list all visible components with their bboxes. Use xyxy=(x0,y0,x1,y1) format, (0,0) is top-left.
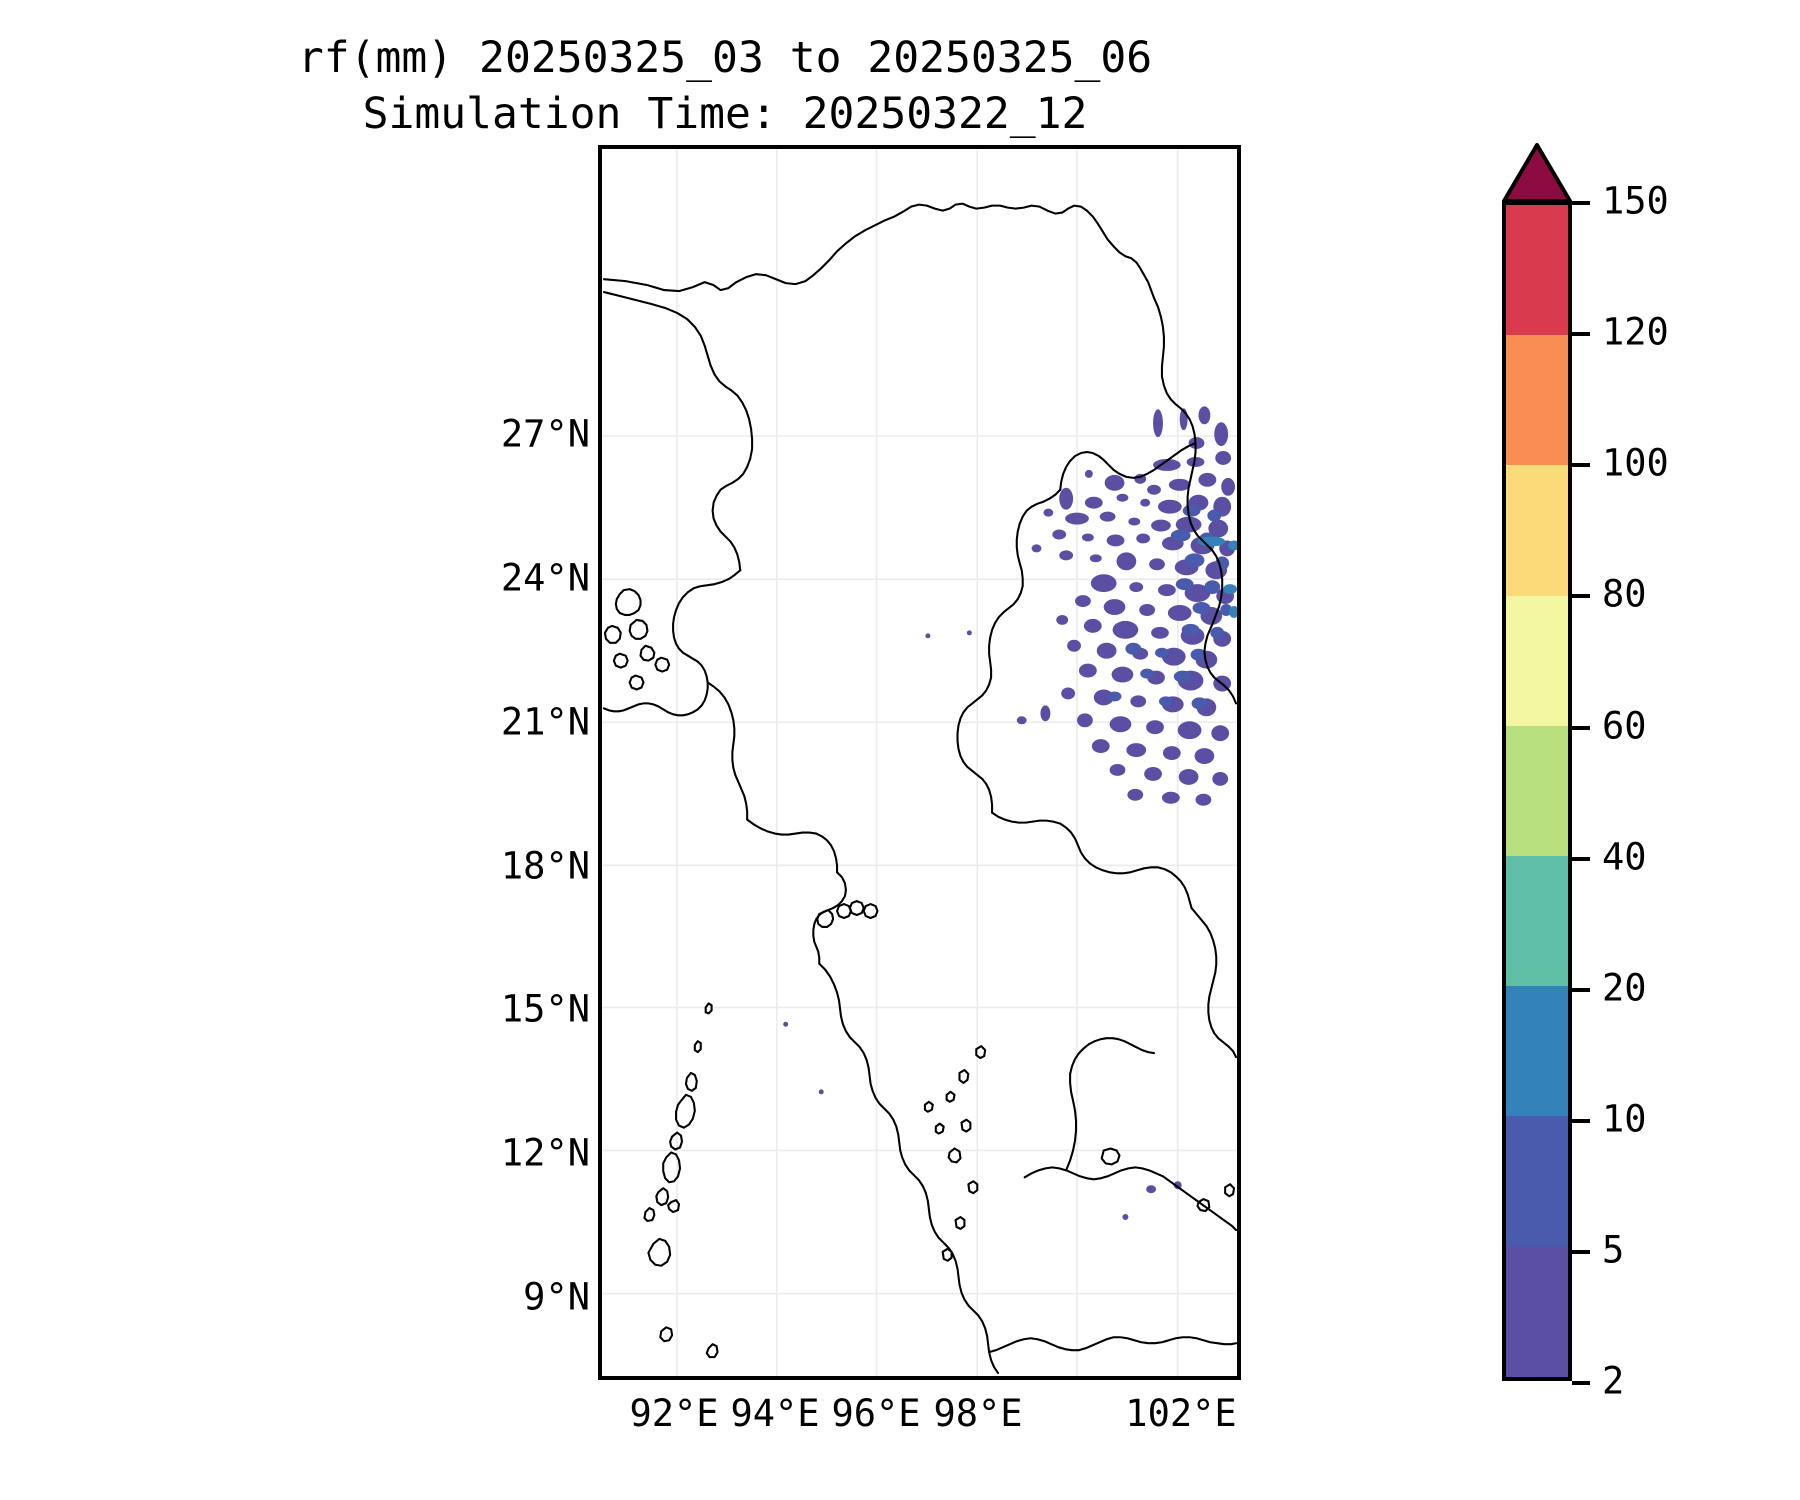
title-block: rf(mm) 20250325_03 to 20250325_06 Simula… xyxy=(0,30,1450,142)
map-axes[interactable] xyxy=(598,145,1241,1380)
cb-label-2: 2 xyxy=(1602,1360,1624,1403)
ytick-label-24n: 24°N xyxy=(290,557,590,600)
cb-band-2-5 xyxy=(1506,1247,1568,1377)
cb-band-20-40 xyxy=(1506,856,1568,986)
figure-root: rf(mm) 20250325_03 to 20250325_06 Simula… xyxy=(0,0,1800,1500)
cb-label-40: 40 xyxy=(1602,836,1647,879)
cb-label-60: 60 xyxy=(1602,705,1647,748)
cb-tick-10 xyxy=(1572,1119,1590,1123)
cb-label-5: 5 xyxy=(1602,1229,1624,1272)
cb-label-80: 80 xyxy=(1602,573,1647,616)
cb-label-20: 20 xyxy=(1602,967,1647,1010)
xtick-label-98e: 98°E xyxy=(933,1392,1022,1435)
ytick-label-21n: 21°N xyxy=(290,701,590,744)
cb-tick-2 xyxy=(1572,1381,1590,1385)
ytick-label-12n: 12°N xyxy=(290,1132,590,1175)
cb-band-100-120 xyxy=(1506,335,1568,465)
cb-tick-5 xyxy=(1572,1250,1590,1254)
cb-tick-20 xyxy=(1572,988,1590,992)
xtick-label-94e: 94°E xyxy=(730,1392,819,1435)
cb-band-60-80 xyxy=(1506,596,1568,726)
cb-band-40-60 xyxy=(1506,726,1568,856)
cb-label-120: 120 xyxy=(1602,311,1669,354)
cb-tick-150 xyxy=(1572,201,1590,205)
colorbar[interactable]: 150 120 100 80 60 40 20 10 5 2 xyxy=(1502,143,1572,1383)
precipitation-field xyxy=(783,406,1237,1220)
cb-label-10: 10 xyxy=(1602,1098,1647,1141)
coastlines-and-borders xyxy=(604,204,1236,1373)
figure-title: rf(mm) 20250325_03 to 20250325_06 xyxy=(0,30,1450,86)
cb-tick-60 xyxy=(1572,726,1590,730)
map-canvas xyxy=(602,149,1237,1376)
cb-band-5-10 xyxy=(1506,1116,1568,1246)
cb-band-120-150 xyxy=(1506,205,1568,335)
ytick-label-27n: 27°N xyxy=(290,413,590,456)
ytick-label-15n: 15°N xyxy=(290,988,590,1031)
cb-tick-40 xyxy=(1572,857,1590,861)
xtick-label-96e: 96°E xyxy=(831,1392,920,1435)
cb-label-150: 150 xyxy=(1602,180,1669,223)
cb-band-80-100 xyxy=(1506,465,1568,595)
ytick-label-18n: 18°N xyxy=(290,845,590,888)
cb-band-10-20 xyxy=(1506,986,1568,1116)
cb-tick-100 xyxy=(1572,463,1590,467)
xtick-label-92e: 92°E xyxy=(629,1392,718,1435)
colorbar-gradient xyxy=(1502,201,1572,1381)
xtick-label-102e: 102°E xyxy=(1125,1392,1236,1435)
gridlines xyxy=(602,149,1237,1376)
cb-tick-120 xyxy=(1572,332,1590,336)
figure-subtitle: Simulation Time: 20250322_12 xyxy=(0,86,1450,142)
cb-tick-80 xyxy=(1572,594,1590,598)
ytick-label-9n: 9°N xyxy=(290,1276,590,1319)
colorbar-extend-max-icon xyxy=(1502,143,1572,203)
cb-label-100: 100 xyxy=(1602,442,1669,485)
